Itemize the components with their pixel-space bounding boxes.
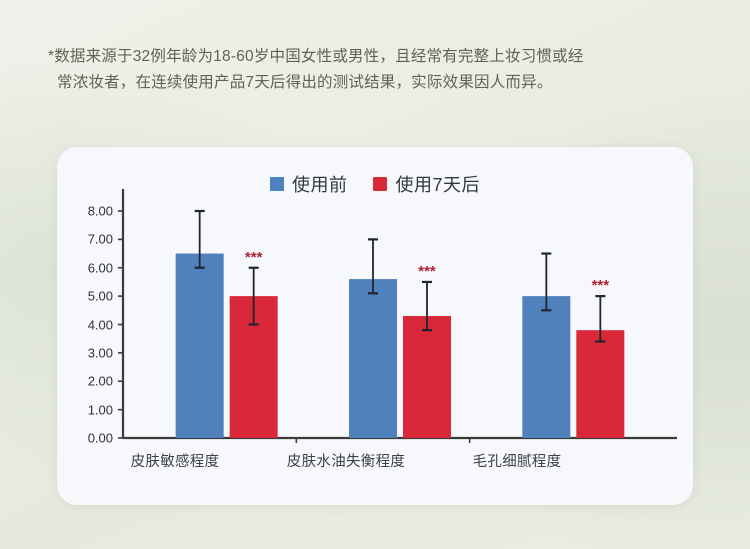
- footnote-line-1: *数据来源于32例年龄为18-60岁中国女性或男性，且经常有完整上妆习惯或经: [48, 44, 708, 70]
- chart-card: 使用前 使用7天后 8.007.006.005.004.003.002.001.…: [57, 147, 693, 505]
- x-axis-label-1: 皮肤水油失衡程度: [256, 450, 436, 471]
- page-root: *数据来源于32例年龄为18-60岁中国女性或男性，且经常有完整上妆习惯或经 常…: [0, 0, 750, 549]
- bar-1-1[interactable]: [403, 316, 451, 438]
- x-axis-label-0: 皮肤敏感程度: [85, 450, 265, 471]
- x-axis-label-2: 毛孔细腻程度: [427, 450, 607, 471]
- footnote-line-2: 常浓妆者，在连续使用产品7天后得出的测试结果，实际效果因人而异。: [48, 70, 708, 96]
- significance-marker-1-1: ***: [418, 263, 436, 280]
- significance-marker-1-0: ***: [245, 249, 263, 266]
- bar-0-2[interactable]: [522, 296, 570, 438]
- footnote-disclaimer: *数据来源于32例年龄为18-60岁中国女性或男性，且经常有完整上妆习惯或经 常…: [48, 44, 708, 96]
- bar-0-1[interactable]: [349, 279, 397, 438]
- bar-0-0[interactable]: [176, 254, 224, 438]
- bar-1-2[interactable]: [576, 330, 624, 438]
- significance-marker-1-2: ***: [592, 277, 610, 294]
